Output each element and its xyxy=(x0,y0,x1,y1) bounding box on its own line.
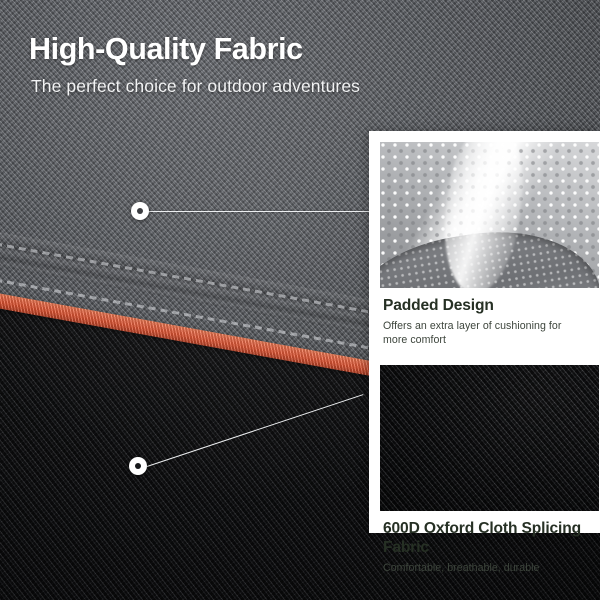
panel-title-oxford-cloth: 600D Oxford Cloth Splicing Fabric xyxy=(383,520,585,556)
black-oxford-cloth-photo xyxy=(380,365,599,511)
info-card: Padded Design Offers an extra layer of c… xyxy=(369,131,600,533)
panel-title-padded-design: Padded Design xyxy=(383,297,585,315)
panel-description-oxford-cloth: Comfortable, breathable, durable xyxy=(383,561,585,575)
callout-marker-padded-design[interactable] xyxy=(131,202,149,220)
page-title: High-Quality Fabric xyxy=(29,32,499,67)
callout-leader-line-padded-design xyxy=(148,211,370,212)
header: High-Quality Fabric The perfect choice f… xyxy=(29,32,499,97)
padded-mesh-fabric-photo xyxy=(380,142,599,288)
panel-padded-design: Padded Design Offers an extra layer of c… xyxy=(380,142,599,353)
panel-oxford-cloth: 600D Oxford Cloth Splicing Fabric Comfor… xyxy=(380,365,599,581)
panel-body-oxford-cloth: 600D Oxford Cloth Splicing Fabric Comfor… xyxy=(380,511,599,581)
page-subtitle: The perfect choice for outdoor adventure… xyxy=(31,76,499,97)
callout-marker-oxford-cloth[interactable] xyxy=(129,457,147,475)
panel-body-padded-design: Padded Design Offers an extra layer of c… xyxy=(380,288,599,353)
panel-description-padded-design: Offers an extra layer of cushioning for … xyxy=(383,319,585,347)
product-infographic: High-Quality Fabric The perfect choice f… xyxy=(0,0,600,600)
